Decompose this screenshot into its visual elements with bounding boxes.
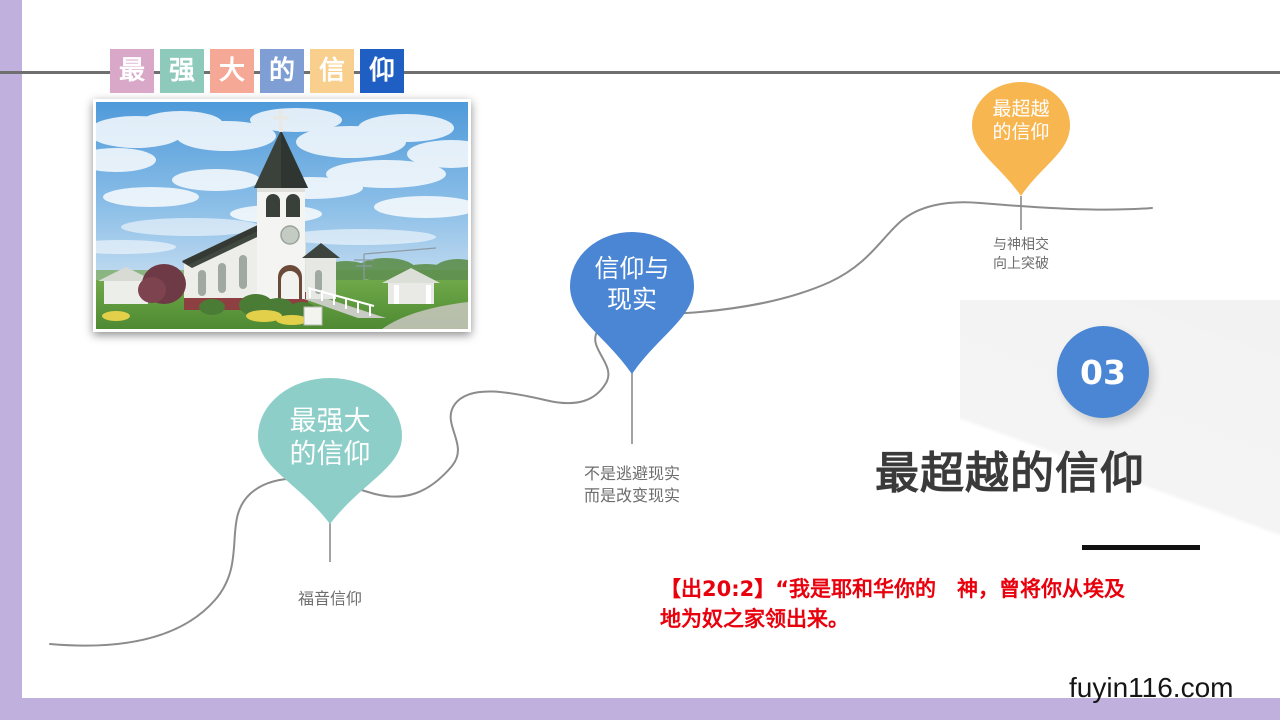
scripture-quote-line1: 【出20:2】“我是耶和华你的 神，曾将你从埃及 xyxy=(660,574,1260,604)
journey-pin-1-label-line2: 的信仰 xyxy=(258,439,402,472)
journey-pin-3-label: 最超越 的信仰 xyxy=(972,98,1070,144)
journey-pin-2-label: 信仰与 现实 xyxy=(570,254,694,315)
title-char-2-text: 大 xyxy=(219,58,245,84)
journey-pin-1-label: 最强大 的信仰 xyxy=(258,406,402,472)
journey-pin-3-caption: 与神相交 向上突破 xyxy=(961,236,1081,274)
title-char-5-text: 仰 xyxy=(369,58,395,84)
scripture-quote-line2: 地为奴之家领出来。 xyxy=(660,604,1260,634)
slide-canvas: 最 强 大 的 信 仰 xyxy=(0,0,1280,720)
title-char-1-text: 强 xyxy=(169,58,195,84)
church-photo-illustration xyxy=(96,102,468,329)
journey-pin-1-caption: 福音信仰 xyxy=(250,588,410,610)
section-number-badge: 03 xyxy=(1057,326,1149,418)
section-number-badge-text: 03 xyxy=(1080,353,1126,392)
journey-pin-1-label-line1: 最强大 xyxy=(258,406,402,439)
journey-pin-1[interactable]: 最强大 的信仰 xyxy=(258,378,402,524)
section-heading: 最超越的信仰 xyxy=(875,437,1145,501)
journey-pin-3-label-line2: 的信仰 xyxy=(972,121,1070,144)
journey-pin-2-label-line2: 现实 xyxy=(570,285,694,316)
title-char-2: 大 xyxy=(210,49,254,93)
journey-pin-2[interactable]: 信仰与 现实 xyxy=(570,232,694,374)
title-character-blocks: 最 强 大 的 信 仰 xyxy=(110,49,404,93)
journey-pin-2-label-line1: 信仰与 xyxy=(570,254,694,285)
footer-website-url: fuyin116.com xyxy=(1069,672,1233,704)
title-char-0-text: 最 xyxy=(119,58,145,84)
church-photo xyxy=(93,99,471,332)
journey-pin-3-caption-line2: 向上突破 xyxy=(961,255,1081,274)
section-heading-rule xyxy=(1082,545,1200,550)
journey-pin-2-caption-line2: 而是改变现实 xyxy=(552,485,712,507)
title-char-0: 最 xyxy=(110,49,154,93)
title-char-4: 信 xyxy=(310,49,354,93)
title-char-5: 仰 xyxy=(360,49,404,93)
journey-pin-3-caption-line1: 与神相交 xyxy=(961,236,1081,255)
title-char-3: 的 xyxy=(260,49,304,93)
journey-pin-3-label-line1: 最超越 xyxy=(972,98,1070,121)
title-char-3-text: 的 xyxy=(269,58,295,84)
journey-pin-1-caption-line1: 福音信仰 xyxy=(250,588,410,610)
journey-pin-3[interactable]: 最超越 的信仰 xyxy=(972,82,1070,196)
title-char-1: 强 xyxy=(160,49,204,93)
title-char-4-text: 信 xyxy=(319,58,345,84)
scripture-quote: 【出20:2】“我是耶和华你的 神，曾将你从埃及 地为奴之家领出来。 xyxy=(660,574,1260,635)
journey-pin-2-caption: 不是逃避现实 而是改变现实 xyxy=(552,463,712,506)
journey-pin-2-caption-line1: 不是逃避现实 xyxy=(552,463,712,485)
